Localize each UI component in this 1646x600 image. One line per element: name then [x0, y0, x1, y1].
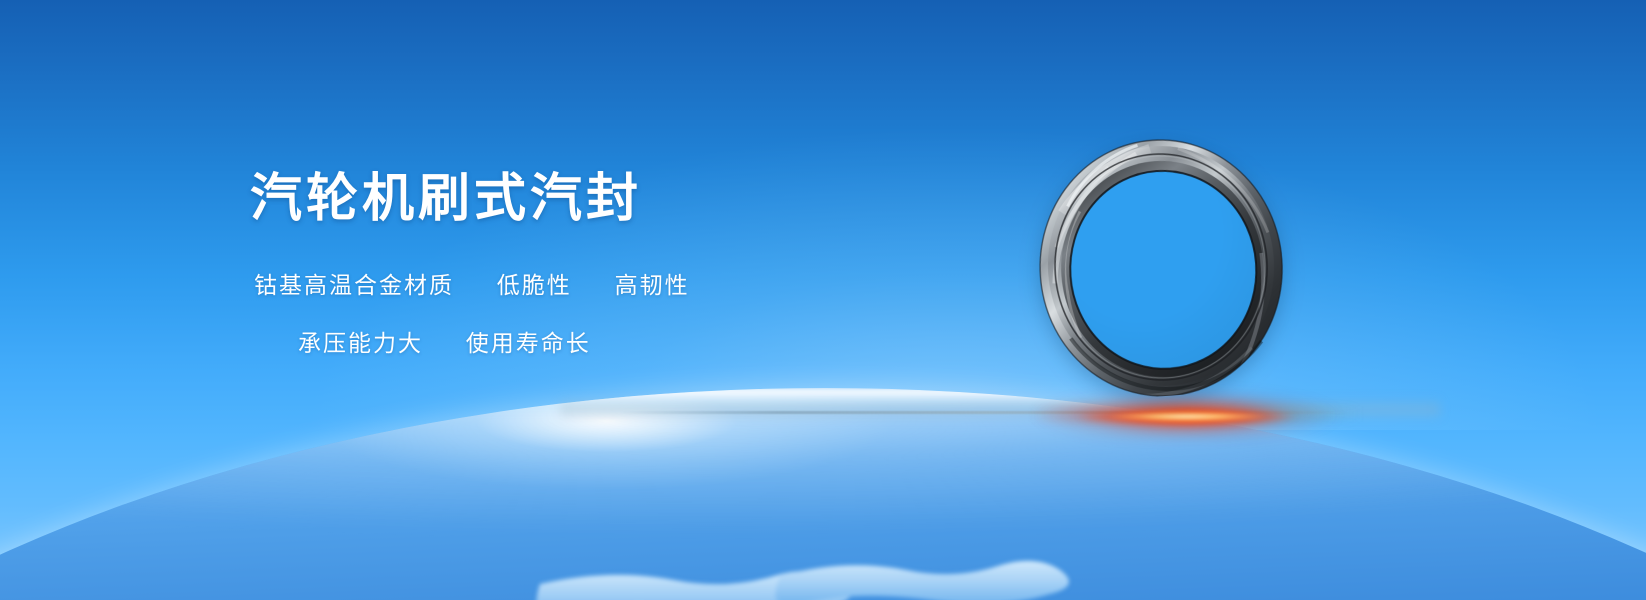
page-title: 汽轮机刷式汽封: [250, 170, 810, 228]
brush-seal-ring-image: [1027, 128, 1295, 405]
feature-line-2: 承压能力大 使用寿命长: [250, 324, 810, 358]
hot-glow-smear: [1032, 406, 1362, 422]
sky-glow: [0, 0, 1646, 430]
feature-item-high-toughness: 高韧性: [615, 272, 690, 298]
feature-item-material: 钴基高温合金材质: [254, 272, 454, 298]
banner-copy: 汽轮机刷式汽封 钴基高温合金材质 低脆性 高韧性 承压能力大 使用寿命长: [250, 170, 810, 358]
feature-item-pressure-capacity: 承压能力大: [298, 330, 423, 356]
feature-line-1: 钴基高温合金材质 低脆性 高韧性: [250, 266, 810, 300]
feature-item-low-brittleness: 低脆性: [497, 272, 572, 298]
product-banner: 汽轮机刷式汽封 钴基高温合金材质 低脆性 高韧性 承压能力大 使用寿命长: [0, 0, 1646, 600]
feature-item-long-life: 使用寿命长: [466, 330, 591, 356]
